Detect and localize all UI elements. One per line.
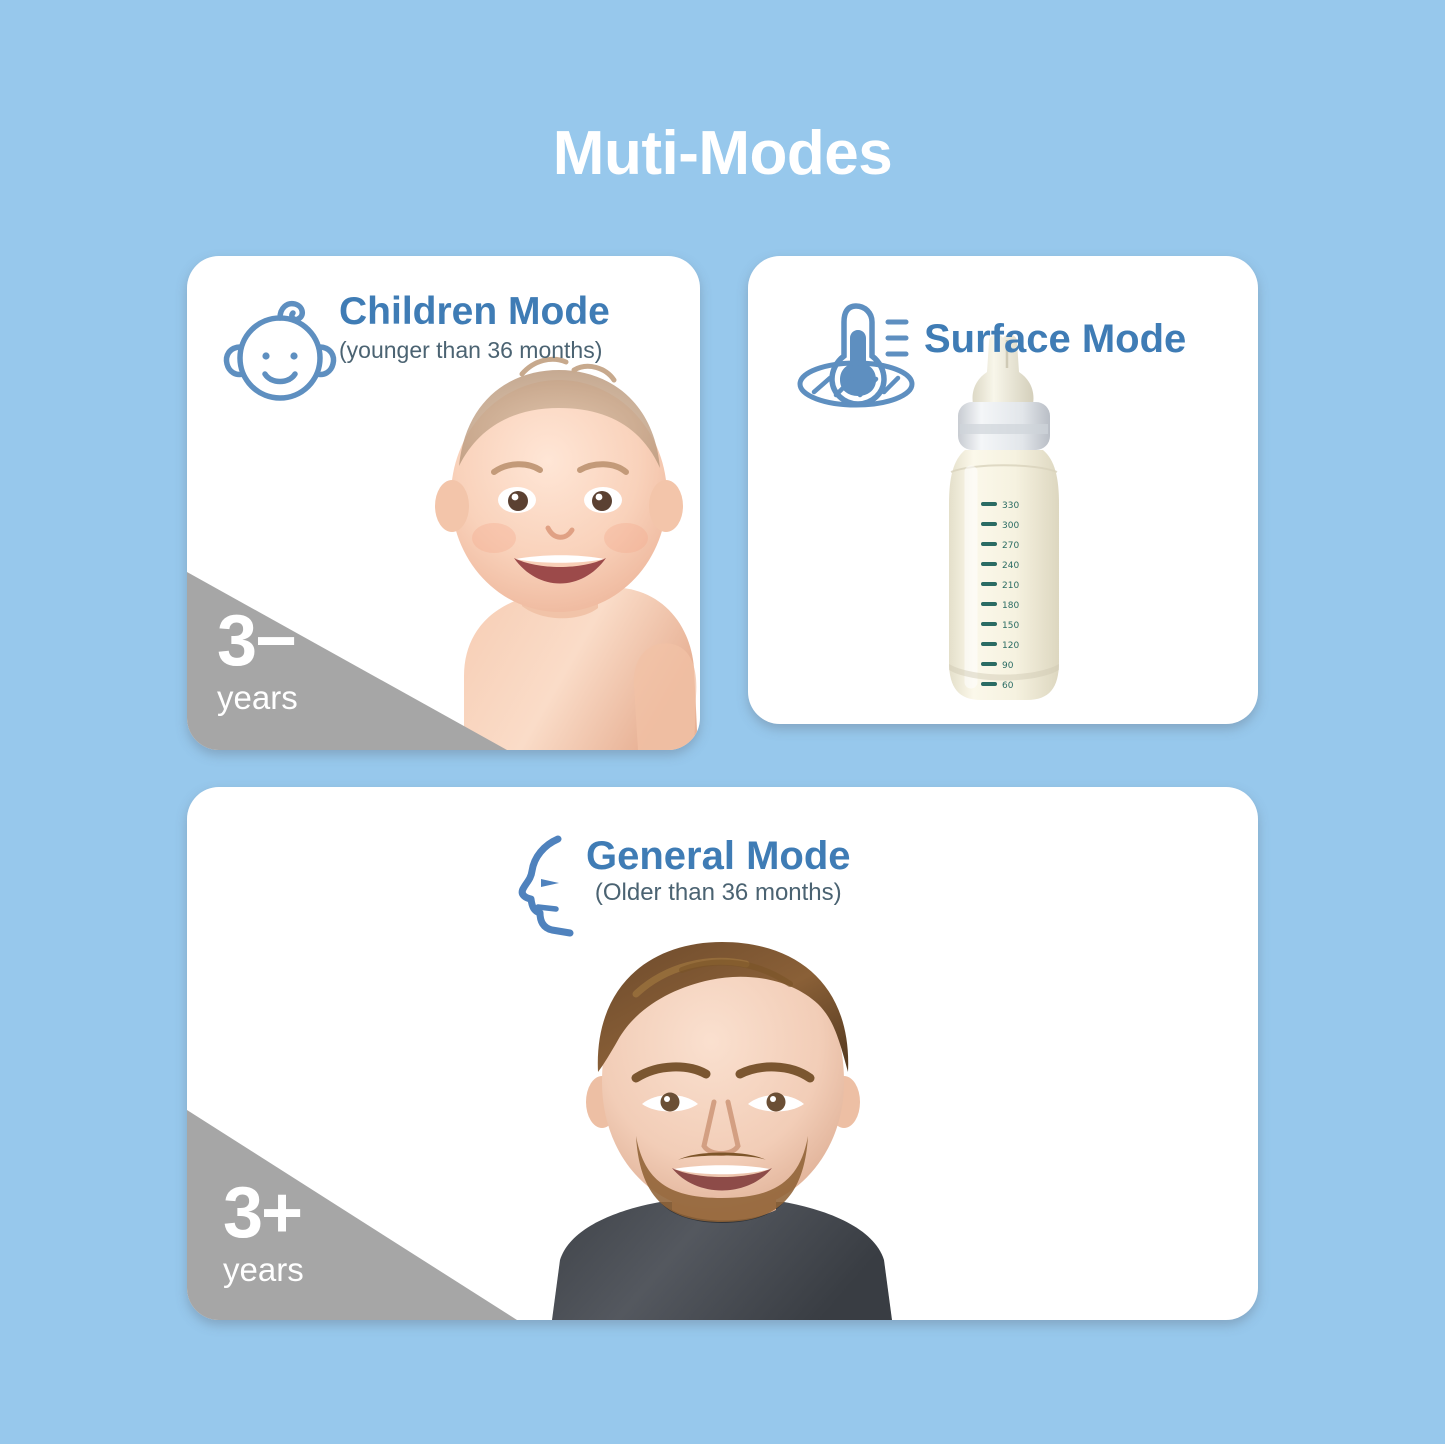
svg-text:120: 120	[1002, 641, 1019, 651]
svg-text:60: 60	[1002, 681, 1014, 691]
card-surface-header: Surface Mode	[796, 296, 1186, 413]
svg-text:90: 90	[1002, 661, 1014, 671]
card-general-header: General Mode (Older than 36 months)	[514, 835, 851, 944]
age-badge-number: 3+	[223, 1177, 304, 1249]
card-children-title: Children Mode	[339, 292, 610, 333]
card-general-subtitle: (Older than 36 months)	[595, 879, 842, 907]
age-badge-unit: years	[223, 1253, 304, 1286]
age-badge-general: 3+ years	[223, 1177, 304, 1286]
thermometer-surface-icon	[796, 296, 924, 413]
card-children-subtitle: (younger than 36 months)	[339, 337, 610, 364]
card-surface-mode[interactable]: 330 300 270 240 210 180 150 120 90 60	[748, 256, 1258, 724]
card-general-title: General Mode	[586, 835, 851, 877]
card-general-mode[interactable]: 3+ years General Mode (Older than 36 mon…	[187, 787, 1258, 1320]
card-children-header: Children Mode (younger than 36 months)	[221, 292, 610, 415]
svg-text:240: 240	[1002, 561, 1019, 571]
svg-text:210: 210	[1002, 581, 1019, 591]
svg-text:330: 330	[1002, 501, 1019, 511]
svg-text:150: 150	[1002, 621, 1019, 631]
smiling-man-photo	[532, 922, 912, 1320]
page-title: Muti-Modes	[0, 118, 1445, 189]
age-badge-unit: years	[217, 681, 298, 714]
smiling-baby-photo	[402, 356, 700, 750]
face-profile-icon	[514, 835, 586, 944]
age-badge-number: 3−	[217, 605, 298, 677]
svg-text:300: 300	[1002, 521, 1019, 531]
card-children-mode[interactable]: 3− years Children Mode (younger than 36 …	[187, 256, 700, 750]
svg-text:180: 180	[1002, 601, 1019, 611]
svg-text:270: 270	[1002, 541, 1019, 551]
baby-face-icon	[221, 292, 339, 415]
age-badge-children: 3− years	[217, 605, 298, 714]
card-surface-title: Surface Mode	[924, 296, 1186, 360]
